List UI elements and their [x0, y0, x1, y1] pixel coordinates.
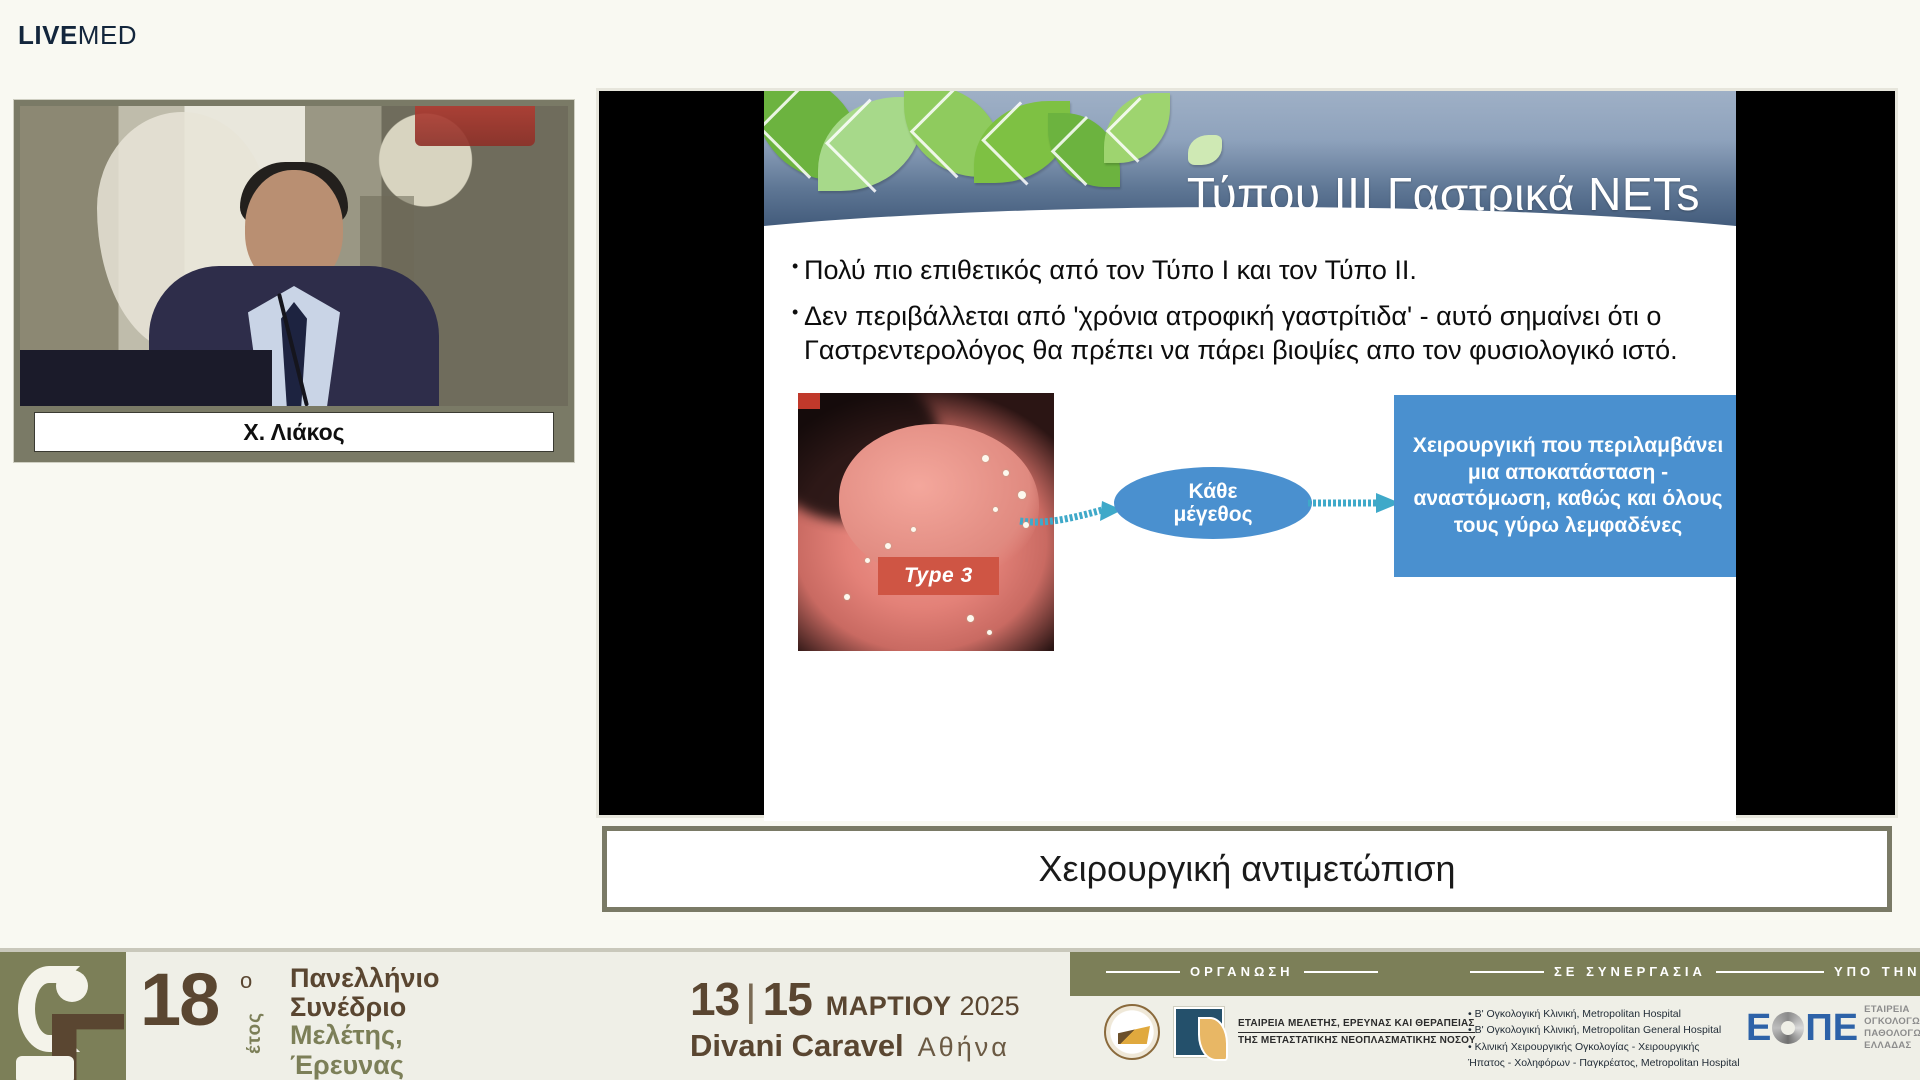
date-month: ΜΑΡΤΙΟΥ [826, 991, 952, 1022]
rail-label-organization: ΟΡΓΑΝΩΣΗ [1106, 964, 1378, 979]
rail-coop-text: ΣΕ ΣΥΝΕΡΓΑΣΙΑ [1554, 964, 1706, 979]
speaker-name: Χ. Λιάκος [243, 419, 344, 446]
date-separator: | [745, 976, 756, 1026]
speaker-video[interactable] [20, 106, 568, 406]
rail-label-cooperation: ΣΕ ΣΥΝΕΡΓΑΣΙΑ [1470, 964, 1790, 979]
arrow-ellipse-to-box [1306, 491, 1402, 515]
treatment-diagram: Type 3 Κάθε μέγεθος Χειρουργική που περι… [794, 379, 1702, 709]
edition-number: 18 [140, 966, 218, 1034]
caption-bar-frame: Χειρουργική αντιμετώπιση [602, 826, 1892, 912]
ellipse-line-1: Κάθε [1189, 480, 1238, 504]
type3-label: Type 3 [878, 557, 999, 595]
organizer-line-2: ΤΗΣ ΜΕΤΑΣΤΑΤΙΚΗΣ ΝΕΟΠΛΑΣΜΑΤΙΚΗΣ ΝΟΣΟΥ [1238, 1033, 1476, 1048]
livemed-logo: LIVEMED [18, 20, 137, 51]
coop-item: Ήπατος - Χοληφόρων - Παγκρέατος, Metropo… [1468, 1055, 1740, 1071]
eope-letters-pe: ΠΕ [1805, 1009, 1858, 1047]
organizer-society-text: ΕΤΑΙΡΕΙΑ ΜΕΛΕΤΗΣ, ΕΡΕΥΝΑΣ ΚΑΙ ΘΕΡΑΠΕΙΑΣ … [1238, 1016, 1476, 1048]
organizer-seal-icon [1104, 1004, 1160, 1060]
speaker-video-panel[interactable]: Χ. Λιάκος [14, 100, 574, 462]
eope-sub-4: ΕΛΛΑΔΑΣ [1864, 1040, 1920, 1052]
banner-partners: ΟΡΓΑΝΩΣΗ ΣΕ ΣΥΝΕΡΓΑΣΙΑ ΥΠΟ ΤΗΝ ΑΙΓΙΔΑ ΕΤ… [1070, 952, 1920, 1080]
outcome-box: Χειρουργική που περιλαμβάνει μια αποκατά… [1394, 395, 1736, 577]
eope-letter-e: Ε [1746, 1009, 1771, 1047]
slide-bullet: Δεν περιβάλλεται από 'χρόνια ατροφική γα… [794, 299, 1702, 367]
ellipse-line-2: μέγεθος [1173, 503, 1252, 527]
society-logo-icon [1174, 1007, 1224, 1057]
venue-city: Αθήνα [918, 1032, 1010, 1063]
conference-date-block: 13 | 15 ΜΑΡΤΙΟΥ 2025 Divani Caravel Αθήν… [690, 972, 1020, 1064]
eope-sub-3: ΠΑΘΟΛΟΓΩΝ [1864, 1028, 1920, 1040]
endoscopy-marker [798, 393, 820, 409]
rail-label-aegis: ΥΠΟ ΤΗΝ ΑΙΓΙΔΑ [1750, 964, 1920, 979]
leaf-icon [1188, 135, 1222, 165]
slide-frame[interactable]: Τύπου III Γαστρικά NETs Πολύ πιο επιθετι… [596, 88, 1898, 818]
conference-title-lines: Πανελλήνιο Συνέδριο Μελέτης, Έρευνας & Θ… [290, 964, 467, 1080]
spiral-icon [1772, 1012, 1804, 1044]
rail-aegis-text: ΥΠΟ ΤΗΝ ΑΙΓΙΔΑ [1834, 964, 1920, 979]
title-line-2: Μελέτης, Έρευνας [290, 1021, 467, 1080]
brand-live-text: LIVE [18, 20, 78, 51]
organizer-line-1: ΕΤΑΙΡΕΙΑ ΜΕΛΕΤΗΣ, ΕΡΕΥΝΑΣ ΚΑΙ ΘΕΡΑΠΕΙΑΣ [1238, 1016, 1475, 1033]
podium [20, 350, 272, 406]
size-ellipse: Κάθε μέγεθος [1114, 467, 1312, 539]
coop-item: • Κλινική Χειρουργικής Ογκολογίας - Χειρ… [1468, 1039, 1740, 1055]
slide-title: Τύπου III Γαστρικά NETs [1187, 167, 1700, 221]
date-from: 13 [690, 972, 739, 1026]
date-to: 15 [763, 972, 812, 1026]
endoscopy-image [798, 393, 1054, 651]
eope-sub-2: ΟΓΚΟΛΟΓΩΝ [1864, 1016, 1920, 1028]
coop-item: • Β' Ογκολογική Κλινική, Metropolitan Ho… [1468, 1006, 1740, 1022]
aegis-logo: Ε ΠΕ ΕΤΑΙΡΕΙΑ ΟΓΚΟΛΟΓΩΝ ΠΑΘΟΛΟΓΩΝ ΕΛΛΑΔΑ… [1746, 1004, 1920, 1052]
slide-bullet: Πολύ πιο επιθετικός από τον Τύπο I και τ… [794, 253, 1702, 287]
arrow-image-to-ellipse [1018, 501, 1124, 527]
slide-header: Τύπου III Γαστρικά NETs [764, 91, 1736, 231]
title-line-1: Πανελλήνιο Συνέδριο [290, 964, 467, 1021]
backdrop-banner-red [415, 106, 535, 146]
organizer-logos: ΕΤΑΙΡΕΙΑ ΜΕΛΕΤΗΣ, ΕΡΕΥΝΑΣ ΚΑΙ ΘΕΡΑΠΕΙΑΣ … [1104, 1004, 1476, 1060]
edition-ordinal: ο [240, 968, 252, 994]
edition-year-word: έτος [244, 1012, 266, 1054]
slide-body: Πολύ πιο επιθετικός από τον Τύπο I και τ… [764, 231, 1736, 709]
conference-logo-icon [0, 952, 126, 1080]
caption-text: Χειρουργική αντιμετώπιση [1039, 848, 1456, 890]
speaker-name-bar: Χ. Λιάκος [34, 412, 554, 452]
slide-content: Τύπου III Γαστρικά NETs Πολύ πιο επιθετι… [764, 91, 1736, 821]
cooperation-list: • Β' Ογκολογική Κλινική, Metropolitan Ho… [1468, 1006, 1740, 1071]
coop-item: • Β' Ογκολογική Κλινική, Metropolitan Ge… [1468, 1022, 1740, 1038]
brand-med-text: MED [78, 20, 137, 51]
leaf-icon [1104, 93, 1170, 163]
date-year: 2025 [960, 991, 1020, 1022]
caption-bar: Χειρουργική αντιμετώπιση [607, 831, 1887, 907]
eope-subtitle: ΕΤΑΙΡΕΙΑ ΟΓΚΟΛΟΓΩΝ ΠΑΘΟΛΟΓΩΝ ΕΛΛΑΔΑΣ [1864, 1004, 1920, 1052]
eope-sub-1: ΕΤΑΙΡΕΙΑ [1864, 1004, 1920, 1016]
app-root: LIVEMED Χ. Λιάκος [0, 0, 1920, 1080]
eope-logo-icon: Ε ΠΕ [1746, 1009, 1858, 1047]
venue-name: Divani Caravel [690, 1028, 904, 1064]
conference-banner: 18 ο έτος Πανελλήνιο Συνέδριο Μελέτης, Έ… [0, 948, 1920, 1080]
rail-org-text: ΟΡΓΑΝΩΣΗ [1190, 964, 1294, 979]
